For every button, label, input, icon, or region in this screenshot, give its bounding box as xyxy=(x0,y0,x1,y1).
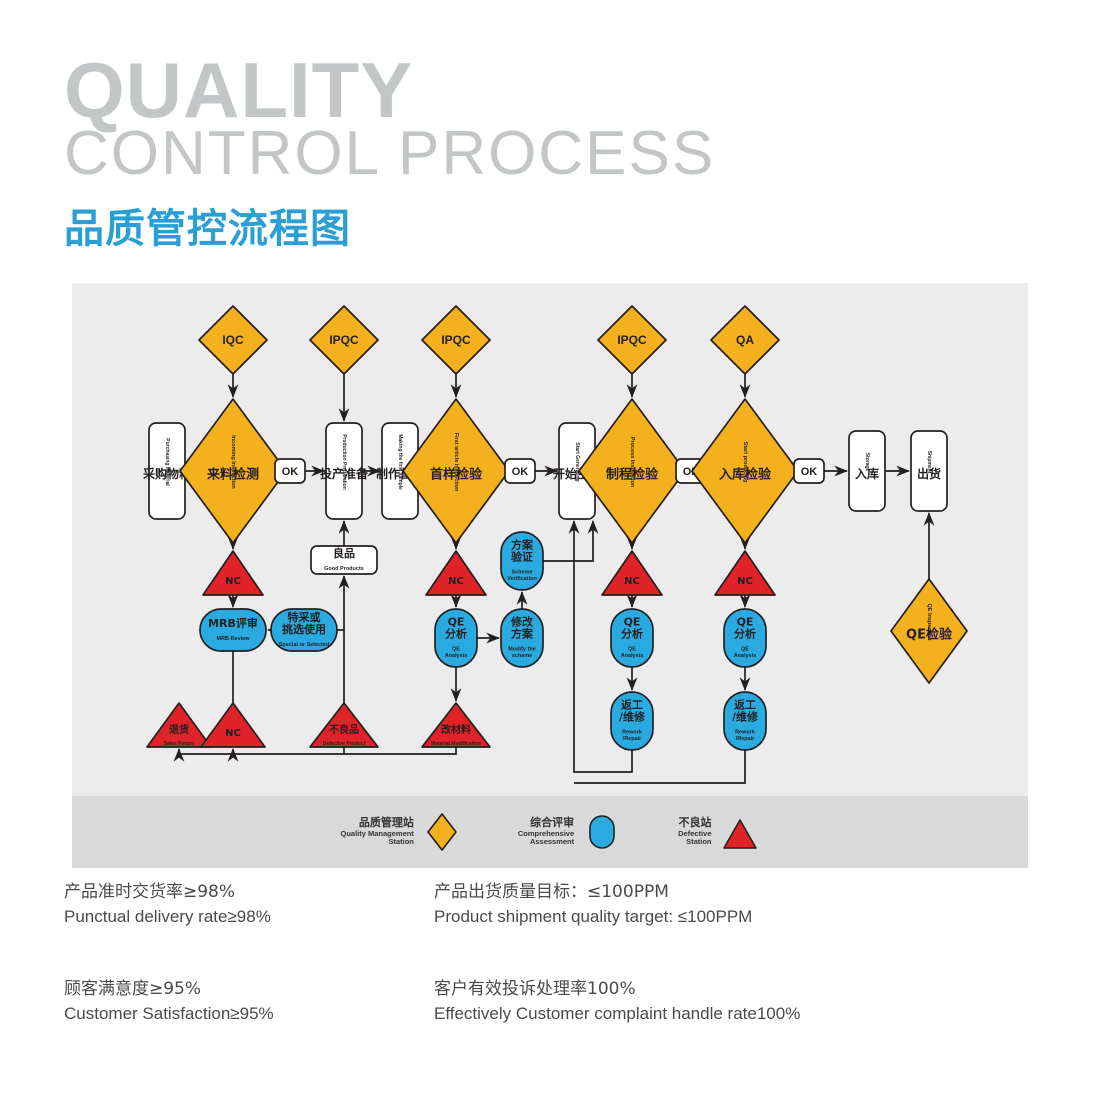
svg-text:MRB Review: MRB Review xyxy=(216,636,250,642)
svg-text:Production Preparation: Production Preparation xyxy=(341,434,347,490)
svg-text:Good Products: Good Products xyxy=(324,566,364,572)
svg-text:Incoming Inspection: Incoming Inspection xyxy=(230,435,236,489)
legend-item-2: 不良站DefectiveStation xyxy=(678,810,759,854)
node-modify[interactable]: 修改方案Modify thescheme xyxy=(501,609,543,667)
svg-text:Material Modification: Material Modification xyxy=(431,741,481,747)
node-ok2[interactable]: OK xyxy=(505,459,535,483)
svg-text:/Repair: /Repair xyxy=(623,736,643,742)
node-nc3[interactable]: NC xyxy=(426,551,486,595)
node-rework2[interactable]: 返工/维修Rework/Repair xyxy=(724,692,766,750)
svg-text:Modify the: Modify the xyxy=(508,647,536,653)
title-chinese: 品质管控流程图 xyxy=(64,196,715,254)
node-ipqc2[interactable]: IPQC xyxy=(422,306,490,374)
node-nc1[interactable]: NC xyxy=(203,551,263,595)
title-quality: QUALITY xyxy=(64,52,715,128)
metric-cn: 顾客满意度≥95% xyxy=(64,977,434,1002)
svg-text:改材料: 改材料 xyxy=(441,723,471,736)
node-shipment[interactable]: 出货Shipment xyxy=(911,431,947,511)
svg-text:良品: 良品 xyxy=(333,546,355,560)
svg-text:/Repair: /Repair xyxy=(736,736,756,742)
svg-text:QE Inspection: QE Inspection xyxy=(926,604,932,642)
node-goodprod[interactable]: 良品Good Products xyxy=(311,546,377,574)
node-iqc[interactable]: IQC xyxy=(199,306,267,374)
node-ipqc1[interactable]: IPQC xyxy=(310,306,378,374)
node-ipqc3[interactable]: IPQC xyxy=(598,306,666,374)
node-salesreturn[interactable]: 退货Sales Return xyxy=(147,703,211,747)
svg-text:First article inspection: First article inspection xyxy=(453,433,459,492)
diamond-icon xyxy=(422,810,462,854)
svg-text:Rework: Rework xyxy=(622,730,643,736)
metric-0: 产品准时交货率≥98%Punctual delivery rate≥98% xyxy=(64,880,434,929)
svg-text:NC: NC xyxy=(448,576,464,587)
svg-text:OK: OK xyxy=(282,466,299,478)
svg-text:返工: 返工 xyxy=(734,698,756,712)
svg-text:方案: 方案 xyxy=(511,538,534,552)
legend-label-en: DefectiveStation xyxy=(678,830,711,847)
connector xyxy=(574,750,745,783)
node-ok4[interactable]: OK xyxy=(794,459,824,483)
svg-text:Verification: Verification xyxy=(507,576,537,582)
node-special[interactable]: 特采或挑选使用Special or Selected xyxy=(271,609,337,651)
svg-text:NC: NC xyxy=(225,728,241,739)
metrics-block: 产品准时交货率≥98%Punctual delivery rate≥98%产品出… xyxy=(64,880,1044,1027)
node-matmod[interactable]: 改材料Material Modification xyxy=(422,703,490,747)
svg-text:返工: 返工 xyxy=(621,698,643,712)
pill-icon xyxy=(582,810,622,854)
svg-text:/维修: /维修 xyxy=(619,710,646,724)
svg-text:Defective Product: Defective Product xyxy=(323,741,366,747)
svg-text:Special or Selected: Special or Selected xyxy=(279,642,329,648)
legend-label-en: ComprehensiveAssessment xyxy=(518,830,574,847)
metric-en: Product shipment quality target: ≤100PPM xyxy=(434,905,1044,930)
svg-text:退货: 退货 xyxy=(169,723,189,736)
svg-text:OK: OK xyxy=(512,466,529,478)
metric-en: Effectively Customer complaint handle ra… xyxy=(434,1002,1044,1027)
node-qe3[interactable]: QE分析QEAnalysis xyxy=(724,609,766,667)
node-qeinsp[interactable]: QE检验QE Inspection xyxy=(891,579,967,683)
legend-item-0: 品质管理站Quality ManagementStation xyxy=(341,810,462,854)
svg-text:Storage: Storage xyxy=(864,453,870,472)
svg-text:Analysis: Analysis xyxy=(445,653,468,659)
svg-text:QE: QE xyxy=(741,647,749,653)
poster-root: QUALITY CONTROL PROCESS 品质管控流程图 IQCIPQCI… xyxy=(0,0,1100,1100)
triangle-icon xyxy=(720,810,760,854)
legend: 品质管理站Quality ManagementStation综合评审Compre… xyxy=(72,796,1028,868)
flowchart-svg: IQCIPQCIPQCIPQCQA采购物料Purchasing Material… xyxy=(72,283,1028,796)
flow-connectors xyxy=(178,374,929,783)
svg-text:Analysis: Analysis xyxy=(734,653,757,659)
svg-text:scheme: scheme xyxy=(512,653,533,659)
metric-cn: 客户有效投诉处理率100% xyxy=(434,977,1044,1002)
svg-text:Process Inspection: Process Inspection xyxy=(629,437,635,488)
node-defective[interactable]: 不良品Defective Product xyxy=(310,703,378,747)
node-qa[interactable]: QA xyxy=(711,306,779,374)
connector xyxy=(337,576,344,630)
node-nc4[interactable]: NC xyxy=(602,551,662,595)
legend-label-cn: 不良站 xyxy=(678,817,711,830)
flow-nodes: IQCIPQCIPQCIPQCQA采购物料Purchasing Material… xyxy=(142,306,967,750)
svg-text:QE: QE xyxy=(452,647,460,653)
node-storageinsp[interactable]: 入库检验Start producing xyxy=(692,399,798,543)
svg-text:修改: 修改 xyxy=(510,615,534,629)
svg-text:OK: OK xyxy=(801,466,818,478)
svg-text:QA: QA xyxy=(736,333,754,347)
node-process[interactable]: 制程检验Process Inspection xyxy=(579,399,685,543)
legend-label-cn: 综合评审 xyxy=(518,817,574,830)
svg-text:不良品: 不良品 xyxy=(329,723,359,736)
svg-text:/维修: /维修 xyxy=(732,710,759,724)
svg-text:Purchasing Material: Purchasing Material xyxy=(164,438,170,486)
svg-text:MRB评审: MRB评审 xyxy=(208,616,258,630)
svg-text:分析: 分析 xyxy=(621,627,643,641)
svg-text:分析: 分析 xyxy=(734,627,756,641)
node-nc2[interactable]: NC xyxy=(201,703,265,747)
svg-text:分析: 分析 xyxy=(445,627,467,641)
svg-text:挑选使用: 挑选使用 xyxy=(282,622,326,636)
svg-text:验证: 验证 xyxy=(511,550,533,564)
svg-text:IPQC: IPQC xyxy=(329,333,359,347)
svg-text:Shipment: Shipment xyxy=(926,451,932,474)
svg-text:Start producing: Start producing xyxy=(742,442,748,483)
legend-item-1: 综合评审ComprehensiveAssessment xyxy=(518,810,622,854)
svg-text:IQC: IQC xyxy=(222,333,244,347)
metric-cn: 产品准时交货率≥98% xyxy=(64,880,434,905)
page-title: QUALITY CONTROL PROCESS 品质管控流程图 xyxy=(64,52,715,254)
svg-text:IPQC: IPQC xyxy=(441,333,471,347)
metric-3: 客户有效投诉处理率100%Effectively Customer compla… xyxy=(434,977,1044,1026)
node-storage[interactable]: 入库Storage xyxy=(849,431,885,511)
legend-label-en: Quality ManagementStation xyxy=(341,830,414,847)
svg-text:IPQC: IPQC xyxy=(617,333,647,347)
node-qe2[interactable]: QE分析QEAnalysis xyxy=(611,609,653,667)
metric-2: 顾客满意度≥95%Customer Satisfaction≥95% xyxy=(64,977,434,1026)
legend-label-cn: 品质管理站 xyxy=(341,817,414,830)
node-incoming[interactable]: 来料检测Incoming Inspection xyxy=(180,399,286,543)
svg-text:Making the first sample: Making the first sample xyxy=(397,434,403,490)
svg-text:特采或: 特采或 xyxy=(288,610,321,624)
metric-en: Punctual delivery rate≥98% xyxy=(64,905,434,930)
svg-text:QE: QE xyxy=(628,647,636,653)
flowchart-canvas: IQCIPQCIPQCIPQCQA采购物料Purchasing Material… xyxy=(72,283,1028,868)
node-rework1[interactable]: 返工/维修Rework/Repair xyxy=(611,692,653,750)
svg-text:NC: NC xyxy=(624,576,640,587)
svg-text:Start Generating: Start Generating xyxy=(574,442,580,481)
svg-text:方案: 方案 xyxy=(511,627,534,641)
node-fai[interactable]: 首样检验First article inspection xyxy=(403,399,509,543)
node-ok1[interactable]: OK xyxy=(275,459,305,483)
title-control-process: CONTROL PROCESS xyxy=(64,122,715,185)
svg-text:Sales Return: Sales Return xyxy=(164,741,195,747)
metric-1: 产品出货质量目标：≤100PPMProduct shipment quality… xyxy=(434,880,1044,929)
node-scheme[interactable]: 方案验证SchemeVerification xyxy=(501,532,543,590)
node-nc5[interactable]: NC xyxy=(715,551,775,595)
node-mrb[interactable]: MRB评审MRB Review xyxy=(200,609,266,651)
node-qe1[interactable]: QE分析QEAnalysis xyxy=(435,609,477,667)
svg-text:NC: NC xyxy=(737,576,753,587)
connector xyxy=(179,747,456,754)
node-prodprep[interactable]: 投产准备Production Preparation xyxy=(320,423,369,519)
connector xyxy=(543,521,593,561)
svg-text:Analysis: Analysis xyxy=(621,653,644,659)
metric-cn: 产品出货质量目标：≤100PPM xyxy=(434,880,1044,905)
svg-text:Rework: Rework xyxy=(735,730,756,736)
svg-text:NC: NC xyxy=(225,576,241,587)
svg-text:Scheme: Scheme xyxy=(511,570,532,576)
metric-en: Customer Satisfaction≥95% xyxy=(64,1002,434,1027)
